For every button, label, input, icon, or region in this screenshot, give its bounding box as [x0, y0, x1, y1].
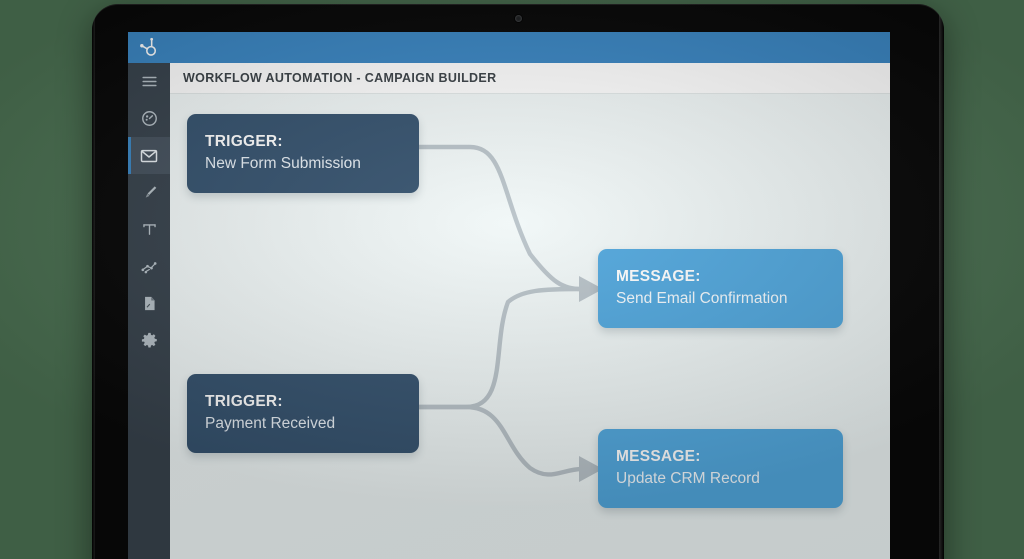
sidebar-item-documents[interactable]	[128, 285, 170, 322]
edge-payment-to-email	[419, 289, 582, 407]
edge-payment-to-crm	[419, 407, 582, 474]
document-title-bar: WORKFLOW AUTOMATION - CAMPAIGN BUILDER	[170, 63, 890, 94]
workflow-canvas[interactable]: TRIGGER: New Form Submission TRIGGER: Pa…	[170, 94, 890, 559]
workflow-node-message-send-email-confirmation[interactable]: MESSAGE: Send Email Confirmation	[598, 249, 843, 328]
node-kind-label: TRIGGER:	[205, 391, 401, 412]
node-title-label: New Form Submission	[205, 153, 401, 174]
sidebar-item-menu[interactable]	[128, 63, 170, 100]
workflow-node-message-update-crm-record[interactable]: MESSAGE: Update CRM Record	[598, 429, 843, 508]
node-title-label: Payment Received	[205, 413, 401, 434]
sidebar-item-design[interactable]	[128, 174, 170, 211]
network-nodes-icon	[139, 257, 159, 277]
gauge-icon	[140, 109, 159, 128]
app-brand-bar	[128, 32, 890, 63]
sidebar-rail	[128, 63, 170, 559]
page-title: WORKFLOW AUTOMATION - CAMPAIGN BUILDER	[183, 71, 497, 85]
edge-form-to-email	[419, 147, 582, 289]
sidebar-item-email[interactable]	[128, 137, 170, 174]
document-icon	[140, 294, 159, 313]
sidebar-item-dashboard[interactable]	[128, 100, 170, 137]
sidebar-item-settings[interactable]	[128, 322, 170, 359]
node-title-label: Update CRM Record	[616, 468, 825, 489]
hamburger-menu-icon	[140, 72, 159, 91]
sidebar-item-text[interactable]	[128, 211, 170, 248]
front-camera-icon	[515, 15, 522, 22]
hubspot-sprocket-icon[interactable]	[137, 37, 159, 59]
node-title-label: Send Email Confirmation	[616, 288, 825, 309]
tablet-bezel-right	[939, 4, 944, 559]
node-kind-label: MESSAGE:	[616, 446, 825, 467]
node-kind-label: MESSAGE:	[616, 266, 825, 287]
workflow-node-trigger-new-form-submission[interactable]: TRIGGER: New Form Submission	[187, 114, 419, 193]
envelope-icon	[139, 146, 159, 166]
text-t-icon	[140, 220, 159, 239]
workflow-node-trigger-payment-received[interactable]: TRIGGER: Payment Received	[187, 374, 419, 453]
tablet-bezel-left	[92, 4, 95, 559]
sidebar-item-workflow[interactable]	[128, 248, 170, 285]
node-kind-label: TRIGGER:	[205, 131, 401, 152]
paintbrush-icon	[140, 183, 159, 202]
tablet-screen: WORKFLOW AUTOMATION - CAMPAIGN BUILDER	[128, 32, 890, 559]
gear-icon	[140, 331, 159, 350]
tablet-device: WORKFLOW AUTOMATION - CAMPAIGN BUILDER	[92, 4, 944, 559]
desk-background: WORKFLOW AUTOMATION - CAMPAIGN BUILDER	[0, 0, 1024, 559]
